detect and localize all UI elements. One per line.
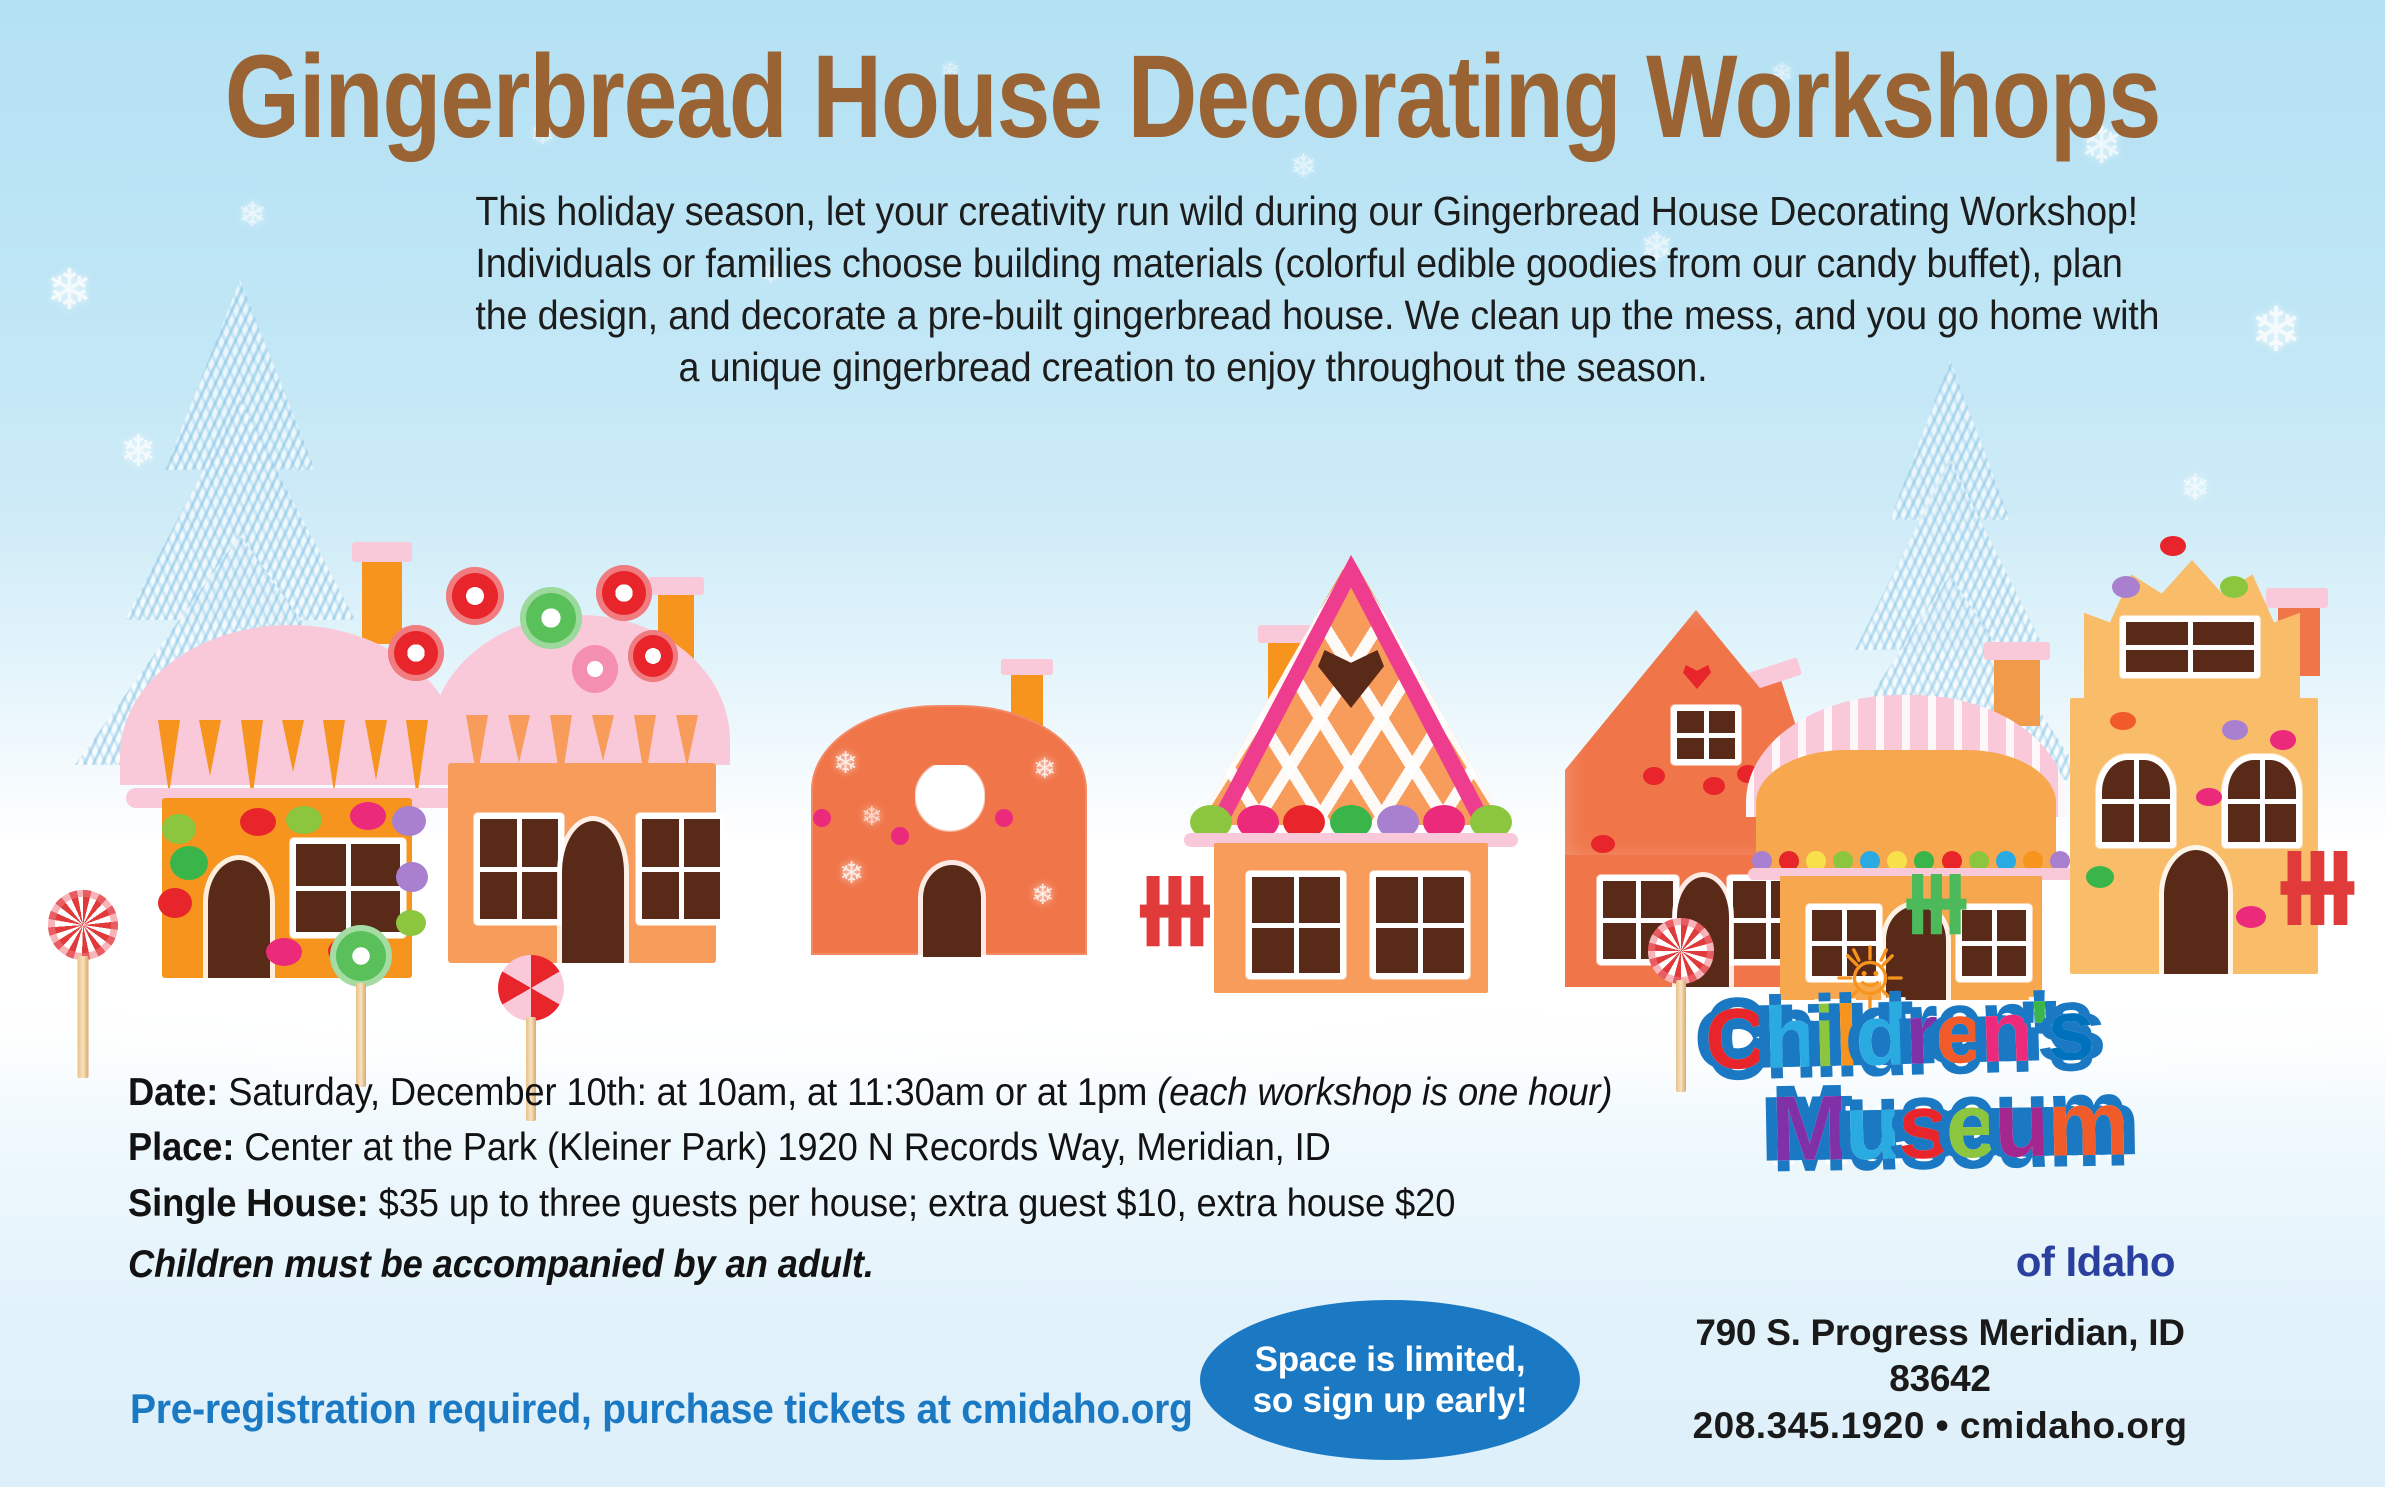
adult-supervision-note: Children must be accompanied by an adult… (128, 1237, 1523, 1292)
footer-contact: 790 S. Progress Meridian, ID 83642 208.3… (1660, 1310, 2220, 1449)
house-snowflake: ❄ ❄ ❄ ❄ ❄ (805, 645, 1105, 995)
detail-row-place: Place: Center at the Park (Kleiner Park)… (128, 1120, 1523, 1175)
intro-line-2: Individuals or families choose building … (475, 237, 1910, 289)
green-candy-cane: ⧻ (1896, 858, 1976, 954)
event-details: Date: Saturday, December 10th: at 10am, … (128, 1065, 1628, 1293)
date-label: Date: (128, 1071, 218, 1114)
date-note: (each workshop is one hour) (1157, 1071, 1612, 1114)
flyer-canvas: ❄ ❄ ❄ ❄ ❄ ❄ ❄ ❄ ❄ ❄ ❄ ❄ ❄ ❄ Gingerbread … (0, 0, 2385, 1487)
intro-line-1: This holiday season, let your creativity… (475, 185, 1910, 237)
detail-row-price: Single House: $35 up to three guests per… (128, 1176, 1523, 1231)
badge-line-2: so sign up early! (1253, 1380, 1528, 1421)
logo-of-idaho: of Idaho (2016, 1238, 2175, 1286)
footer-phone-web[interactable]: 208.345.1920 • cmidaho.org (1660, 1403, 2220, 1449)
date-value: Saturday, December 10th: at 10am, at 11:… (228, 1071, 1157, 1114)
peppermint-lollipop-1 (48, 890, 118, 1080)
house-gumdrop-roof (400, 525, 760, 995)
place-value: Center at the Park (Kleiner Park) 1920 N… (244, 1126, 1330, 1169)
badge-line-1: Space is limited, (1255, 1339, 1526, 1380)
intro-line-3: the design, and decorate a pre-built gin… (475, 289, 1910, 341)
price-label: Single House: (128, 1182, 369, 1225)
intro-line-4: a unique gingerbread creation to enjoy t… (475, 341, 1910, 393)
price-value: $35 up to three guests per house; extra … (379, 1182, 1456, 1225)
detail-row-date: Date: Saturday, December 10th: at 10am, … (128, 1065, 1523, 1120)
candy-cane-2: ⧻ (2268, 832, 2367, 950)
intro-paragraph: This holiday season, let your creativity… (475, 185, 1910, 393)
page-title: Gingerbread House Decorating Workshops (215, 36, 2171, 160)
house-lattice-heart (1180, 485, 1520, 1005)
footer-address: 790 S. Progress Meridian, ID 83642 (1660, 1310, 2220, 1403)
space-limited-badge: Space is limited, so sign up early! (1200, 1300, 1580, 1460)
pre-registration-note[interactable]: Pre-registration required, purchase tick… (130, 1385, 1193, 1433)
place-label: Place: (128, 1126, 234, 1169)
childrens-museum-logo: Children's Museum of Idaho (1705, 985, 2175, 1275)
logo-word-museum: Museum (1770, 1070, 2176, 1182)
